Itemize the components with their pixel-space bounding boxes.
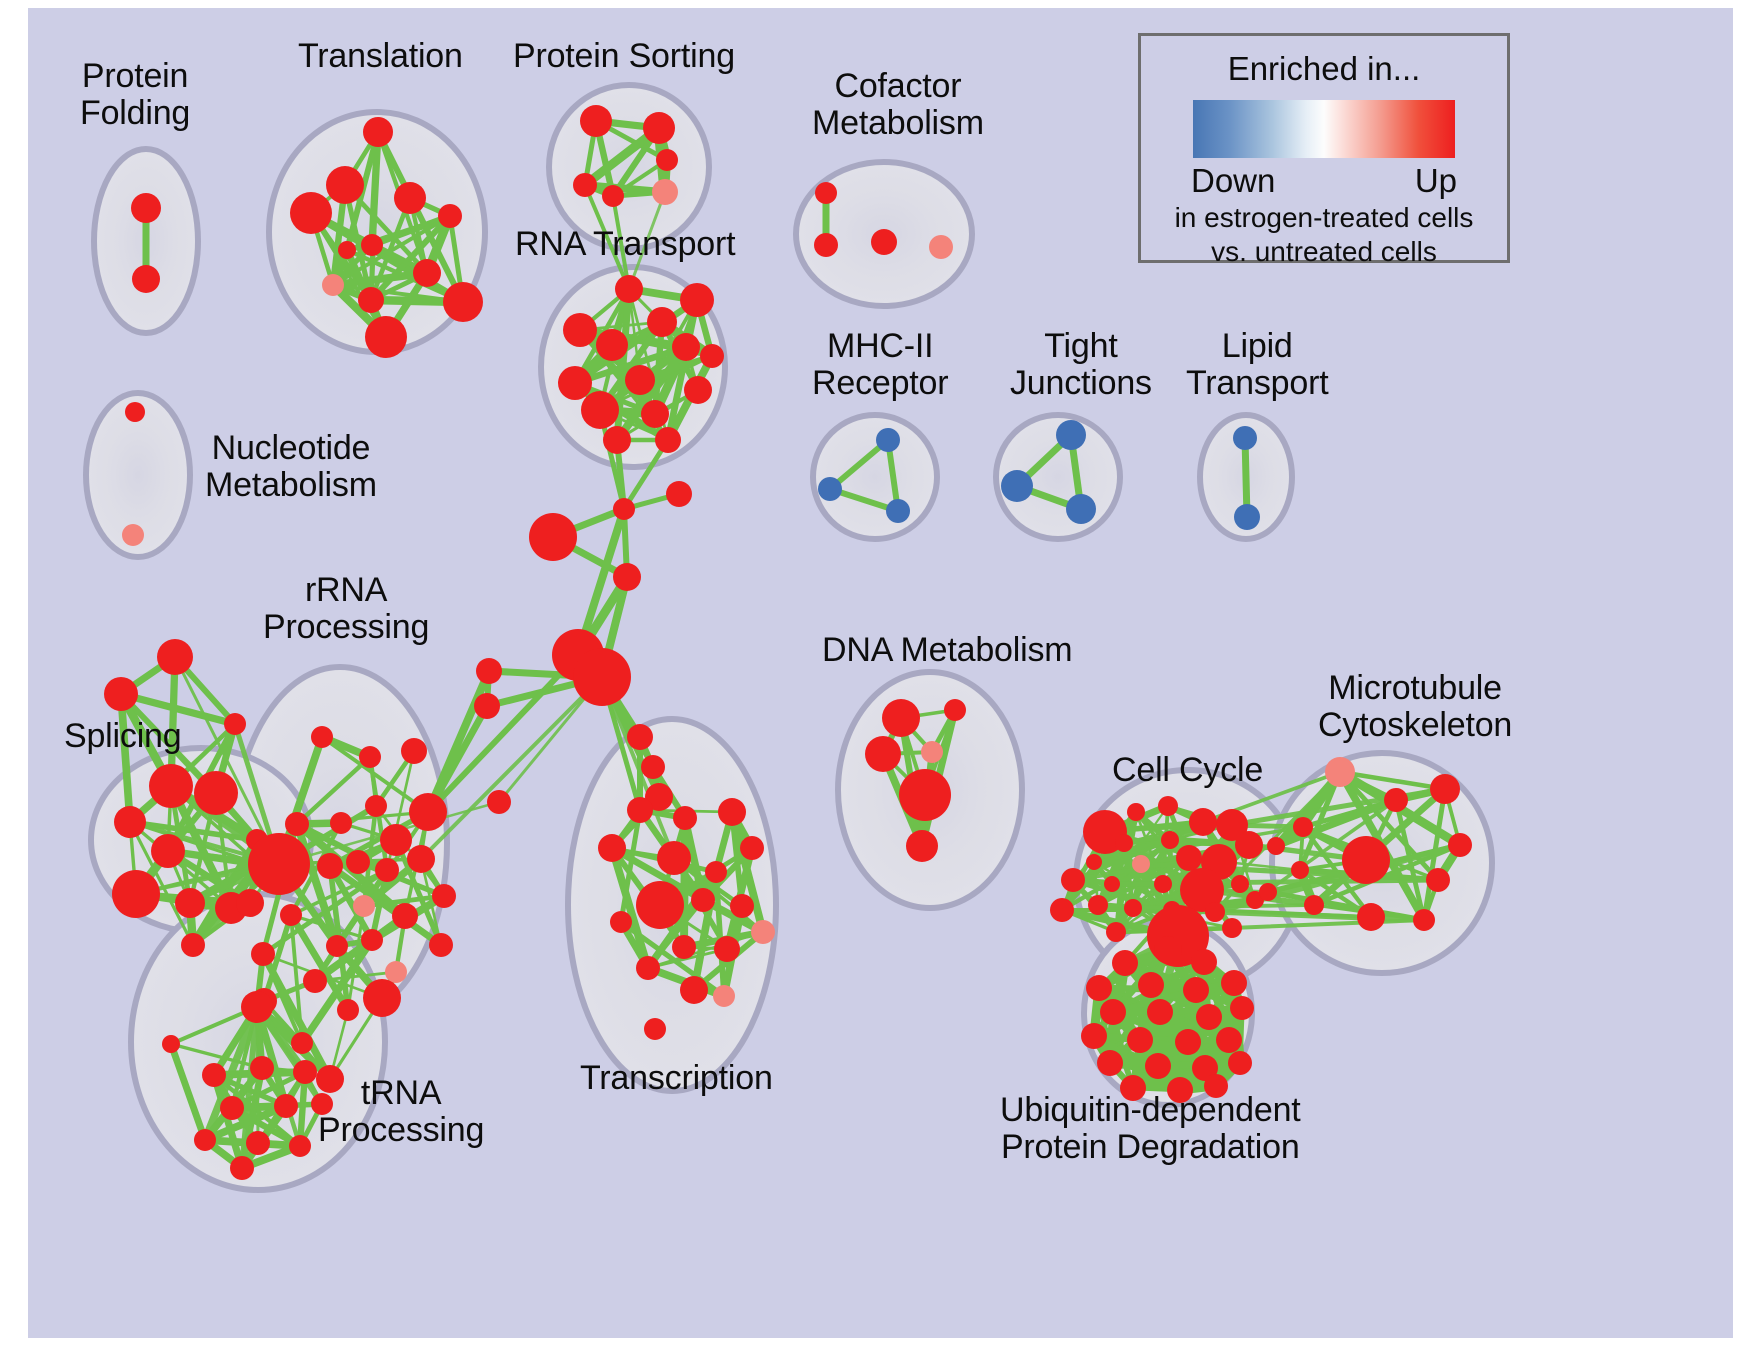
network-node-linker xyxy=(613,563,641,591)
network-node-rna_transport xyxy=(558,366,592,400)
network-node-trna_processing xyxy=(293,1060,317,1084)
network-node-rna_transport xyxy=(563,313,597,347)
network-node-ubiquitin xyxy=(1112,950,1138,976)
network-node-rrna_processing xyxy=(248,833,310,895)
network-node-trna_processing xyxy=(194,1129,216,1151)
network-node-lipid_transport xyxy=(1233,426,1257,450)
network-node-microtubule xyxy=(1384,788,1408,812)
network-node-ubiquitin xyxy=(1216,1027,1242,1053)
network-node-protein_folding xyxy=(132,265,160,293)
network-node-trna_processing xyxy=(274,1094,298,1118)
network-node-rrna_processing xyxy=(392,903,418,929)
network-node-transcription xyxy=(680,976,708,1004)
network-node-rrna_processing xyxy=(359,746,381,768)
network-node-mhc2_receptor xyxy=(876,428,900,452)
network-node-transcription xyxy=(751,920,775,944)
network-edge xyxy=(684,818,685,947)
network-node-trna_processing xyxy=(230,1156,254,1180)
network-node-microtubule xyxy=(1448,833,1472,857)
network-node-splicing xyxy=(224,713,246,735)
legend-title: Enriched in... xyxy=(1141,50,1507,88)
network-node-ubiquitin xyxy=(1100,999,1126,1025)
network-node-linker xyxy=(529,513,577,561)
network-node-splicing xyxy=(112,870,160,918)
network-node-mhc2_receptor xyxy=(818,477,842,501)
network-node-lipid_transport xyxy=(1234,504,1260,530)
network-node-rrna_processing xyxy=(330,812,352,834)
network-node-rrna_processing xyxy=(429,933,453,957)
network-node-transcription xyxy=(644,1018,666,1040)
network-node-ubiquitin xyxy=(1081,1023,1107,1049)
network-node-rrna_processing xyxy=(353,895,375,917)
network-node-ubiquitin xyxy=(1191,949,1217,975)
network-node-linker xyxy=(487,790,511,814)
network-node-rna_transport xyxy=(684,376,712,404)
network-node-protein_sorting xyxy=(602,185,624,207)
network-node-splicing xyxy=(157,639,193,675)
network-node-cofactor_metab xyxy=(815,182,837,204)
legend-high-label: Up xyxy=(1415,162,1457,200)
network-node-translation xyxy=(358,287,384,313)
cluster-label-protein_folding: Protein Folding xyxy=(80,58,190,131)
enrichment-map-figure: Protein FoldingTranslationProtein Sortin… xyxy=(0,0,1750,1360)
network-node-dna_metabolism xyxy=(882,699,920,737)
network-node-dna_metabolism xyxy=(944,699,966,721)
network-node-tight_junctions xyxy=(1066,494,1096,524)
network-node-ubiquitin xyxy=(1147,999,1173,1025)
network-node-translation xyxy=(322,274,344,296)
network-node-translation xyxy=(365,316,407,358)
network-node-linker xyxy=(573,648,631,706)
network-node-transcription xyxy=(627,797,653,823)
network-node-translation xyxy=(290,192,332,234)
cluster-label-lipid_transport: Lipid Transport xyxy=(1186,328,1328,401)
network-node-linker xyxy=(476,658,502,684)
network-node-rrna_processing xyxy=(291,1032,313,1054)
network-node-transcription xyxy=(730,894,754,918)
network-node-trna_processing xyxy=(246,1131,270,1155)
network-node-microtubule xyxy=(1304,895,1324,915)
network-node-rrna_processing xyxy=(409,793,447,831)
network-node-mhc2_receptor xyxy=(886,499,910,523)
network-node-tight_junctions xyxy=(1001,470,1033,502)
network-node-cell_cycle xyxy=(1176,845,1202,871)
network-node-splicing xyxy=(194,771,238,815)
network-node-ubiquitin xyxy=(1145,1053,1171,1079)
network-node-rrna_processing xyxy=(326,935,348,957)
network-node-cofactor_metab xyxy=(814,233,838,257)
network-node-rrna_processing xyxy=(365,795,387,817)
cluster-label-tight_junctions: Tight Junctions xyxy=(1010,328,1152,401)
network-node-transcription xyxy=(713,985,735,1007)
network-node-ubiquitin xyxy=(1086,975,1112,1001)
network-node-cell_cycle xyxy=(1088,895,1108,915)
legend-low-label: Down xyxy=(1191,162,1275,200)
network-node-protein_folding xyxy=(131,193,161,223)
network-node-rna_transport xyxy=(655,427,681,453)
network-node-cell_cycle xyxy=(1231,875,1249,893)
network-node-microtubule xyxy=(1426,868,1450,892)
network-node-cell_cycle xyxy=(1189,808,1217,836)
network-node-microtubule xyxy=(1325,757,1355,787)
network-node-tight_junctions xyxy=(1056,420,1086,450)
network-node-nucleotide_metab xyxy=(125,402,145,422)
network-node-protein_sorting xyxy=(643,112,675,144)
cluster-label-translation: Translation xyxy=(298,38,463,75)
network-node-splicing xyxy=(104,677,138,711)
network-node-rna_transport xyxy=(625,365,655,395)
network-node-cofactor_metab xyxy=(871,229,897,255)
network-node-cell_cycle xyxy=(1104,876,1120,892)
network-node-translation xyxy=(394,182,426,214)
network-node-cell_cycle xyxy=(1205,902,1225,922)
network-node-cell_cycle xyxy=(1061,868,1085,892)
cluster-label-rna_transport: RNA Transport xyxy=(515,226,735,263)
network-node-rrna_processing xyxy=(380,824,412,856)
network-node-trna_processing xyxy=(241,991,273,1023)
network-node-translation xyxy=(438,204,462,228)
network-node-rrna_processing xyxy=(285,812,309,836)
network-node-translation xyxy=(326,166,364,204)
cluster-label-rrna_processing: rRNA Processing xyxy=(263,572,429,645)
network-node-ubiquitin xyxy=(1175,1029,1201,1055)
network-node-cell_cycle xyxy=(1086,854,1102,870)
network-node-linker xyxy=(474,693,500,719)
network-node-rna_transport xyxy=(581,391,619,429)
network-node-translation xyxy=(413,259,441,287)
network-node-ubiquitin xyxy=(1230,996,1254,1020)
network-node-transcription xyxy=(598,834,626,862)
network-node-transcription xyxy=(672,935,696,959)
network-node-rrna_processing xyxy=(251,942,275,966)
cluster-label-nucleotide_metab: Nucleotide Metabolism xyxy=(205,430,377,503)
cluster-label-cofactor_metab: Cofactor Metabolism xyxy=(812,68,984,141)
network-node-rna_transport xyxy=(680,283,714,317)
cluster-label-trna_processing: tRNA Processing xyxy=(318,1075,484,1148)
network-node-linker xyxy=(641,755,665,779)
network-node-transcription xyxy=(636,956,660,980)
network-node-rna_transport xyxy=(647,307,677,337)
network-node-trna_processing xyxy=(220,1096,244,1120)
network-node-trna_processing xyxy=(250,1056,274,1080)
network-node-transcription xyxy=(673,806,697,830)
network-node-splicing xyxy=(114,806,146,838)
network-node-rrna_processing xyxy=(401,738,427,764)
network-node-cell_cycle xyxy=(1154,875,1172,893)
network-node-cell_cycle xyxy=(1124,899,1142,917)
network-node-linker xyxy=(627,724,653,750)
network-node-dna_metabolism xyxy=(865,736,901,772)
network-node-rrna_processing xyxy=(317,853,343,879)
network-node-transcription xyxy=(691,888,715,912)
network-node-microtubule xyxy=(1267,837,1285,855)
cluster-label-dna_metabolism: DNA Metabolism xyxy=(822,632,1072,669)
network-node-rrna_processing xyxy=(432,884,456,908)
cluster-label-cell_cycle: Cell Cycle xyxy=(1112,752,1263,789)
network-node-splicing xyxy=(236,889,264,917)
network-node-ubiquitin xyxy=(1228,1051,1252,1075)
cluster-label-splicing: Splicing xyxy=(64,718,181,755)
network-node-dna_metabolism xyxy=(906,830,938,862)
network-node-cell_cycle xyxy=(1127,803,1145,821)
cluster-label-ubiquitin: Ubiquitin-dependent Protein Degradation xyxy=(1000,1092,1301,1165)
network-node-protein_sorting xyxy=(573,173,597,197)
network-node-rrna_processing xyxy=(407,845,435,873)
legend-caption-line1: in estrogen-treated cells xyxy=(1141,202,1507,234)
network-node-trna_processing xyxy=(202,1063,226,1087)
network-node-translation xyxy=(443,282,483,322)
cluster-label-transcription: Transcription xyxy=(580,1060,773,1097)
network-node-microtubule xyxy=(1430,774,1460,804)
network-node-ubiquitin xyxy=(1138,972,1164,998)
network-node-nucleotide_metab xyxy=(122,524,144,546)
network-node-microtubule xyxy=(1259,883,1277,901)
network-node-rna_transport xyxy=(700,344,724,368)
network-node-cell_cycle xyxy=(1235,831,1263,859)
network-node-transcription xyxy=(657,841,691,875)
network-node-dna_metabolism xyxy=(921,741,943,763)
network-node-rrna_processing xyxy=(311,726,333,748)
network-node-microtubule xyxy=(1357,903,1385,931)
network-node-translation xyxy=(361,234,383,256)
network-node-protein_sorting xyxy=(656,149,678,171)
network-node-ubiquitin xyxy=(1183,977,1209,1003)
network-node-transcription xyxy=(714,936,740,962)
network-node-rna_transport xyxy=(641,400,669,428)
network-node-ubiquitin xyxy=(1196,1004,1222,1030)
network-node-transcription xyxy=(740,836,764,860)
network-node-cell_cycle xyxy=(1158,796,1178,816)
network-node-cell_cycle xyxy=(1050,898,1074,922)
cluster-label-protein_sorting: Protein Sorting xyxy=(513,38,735,75)
network-node-splicing xyxy=(151,834,185,868)
network-node-rrna_processing xyxy=(363,979,401,1017)
network-node-rrna_processing xyxy=(337,999,359,1021)
network-node-linker xyxy=(613,498,635,520)
network-node-rna_transport xyxy=(615,275,643,303)
network-node-microtubule xyxy=(1413,909,1435,931)
network-node-rrna_processing xyxy=(375,858,399,882)
network-node-trna_processing xyxy=(289,1135,311,1157)
network-node-transcription xyxy=(636,881,684,929)
network-node-ubiquitin xyxy=(1154,936,1182,964)
network-node-microtubule xyxy=(1342,836,1390,884)
network-node-rrna_processing xyxy=(346,850,370,874)
network-node-ubiquitin xyxy=(1097,1050,1123,1076)
network-node-translation xyxy=(338,241,356,259)
network-node-ubiquitin xyxy=(1127,1027,1153,1053)
network-node-splicing xyxy=(149,764,193,808)
network-node-microtubule xyxy=(1293,817,1313,837)
network-node-rrna_processing xyxy=(280,904,302,926)
network-node-trna_processing xyxy=(162,1035,180,1053)
network-node-rna_transport xyxy=(596,329,628,361)
network-node-cell_cycle xyxy=(1132,855,1150,873)
network-node-cell_cycle xyxy=(1106,922,1126,942)
network-node-transcription xyxy=(718,798,746,826)
network-node-rrna_processing xyxy=(303,969,327,993)
network-node-transcription xyxy=(610,911,632,933)
network-node-cell_cycle xyxy=(1115,834,1133,852)
cluster-hull-mhc2_receptor xyxy=(813,415,937,539)
cluster-label-microtubule: Microtubule Cytoskeleton xyxy=(1318,670,1512,743)
network-node-protein_sorting xyxy=(652,179,678,205)
network-node-dna_metabolism xyxy=(899,769,951,821)
network-node-linker xyxy=(666,481,692,507)
network-node-protein_sorting xyxy=(580,105,612,137)
network-node-cofactor_metab xyxy=(929,235,953,259)
cluster-label-mhc2_receptor: MHC-II Receptor xyxy=(812,328,948,401)
network-node-rna_transport xyxy=(672,333,700,361)
network-node-translation xyxy=(363,117,393,147)
network-node-ubiquitin xyxy=(1221,970,1247,996)
network-node-splicing xyxy=(175,888,205,918)
network-node-splicing xyxy=(181,933,205,957)
legend-caption-line2: vs. untreated cells xyxy=(1141,236,1507,268)
network-node-rna_transport xyxy=(603,426,631,454)
network-node-rrna_processing xyxy=(385,961,407,983)
network-node-cell_cycle xyxy=(1161,831,1179,849)
network-node-cell_cycle xyxy=(1222,918,1242,938)
legend-box: Enriched in... Down Up in estrogen-treat… xyxy=(1138,33,1510,263)
network-node-microtubule xyxy=(1291,861,1309,879)
legend-color-gradient-bar xyxy=(1193,100,1455,158)
network-node-rrna_processing xyxy=(361,929,383,951)
network-node-transcription xyxy=(705,861,727,883)
